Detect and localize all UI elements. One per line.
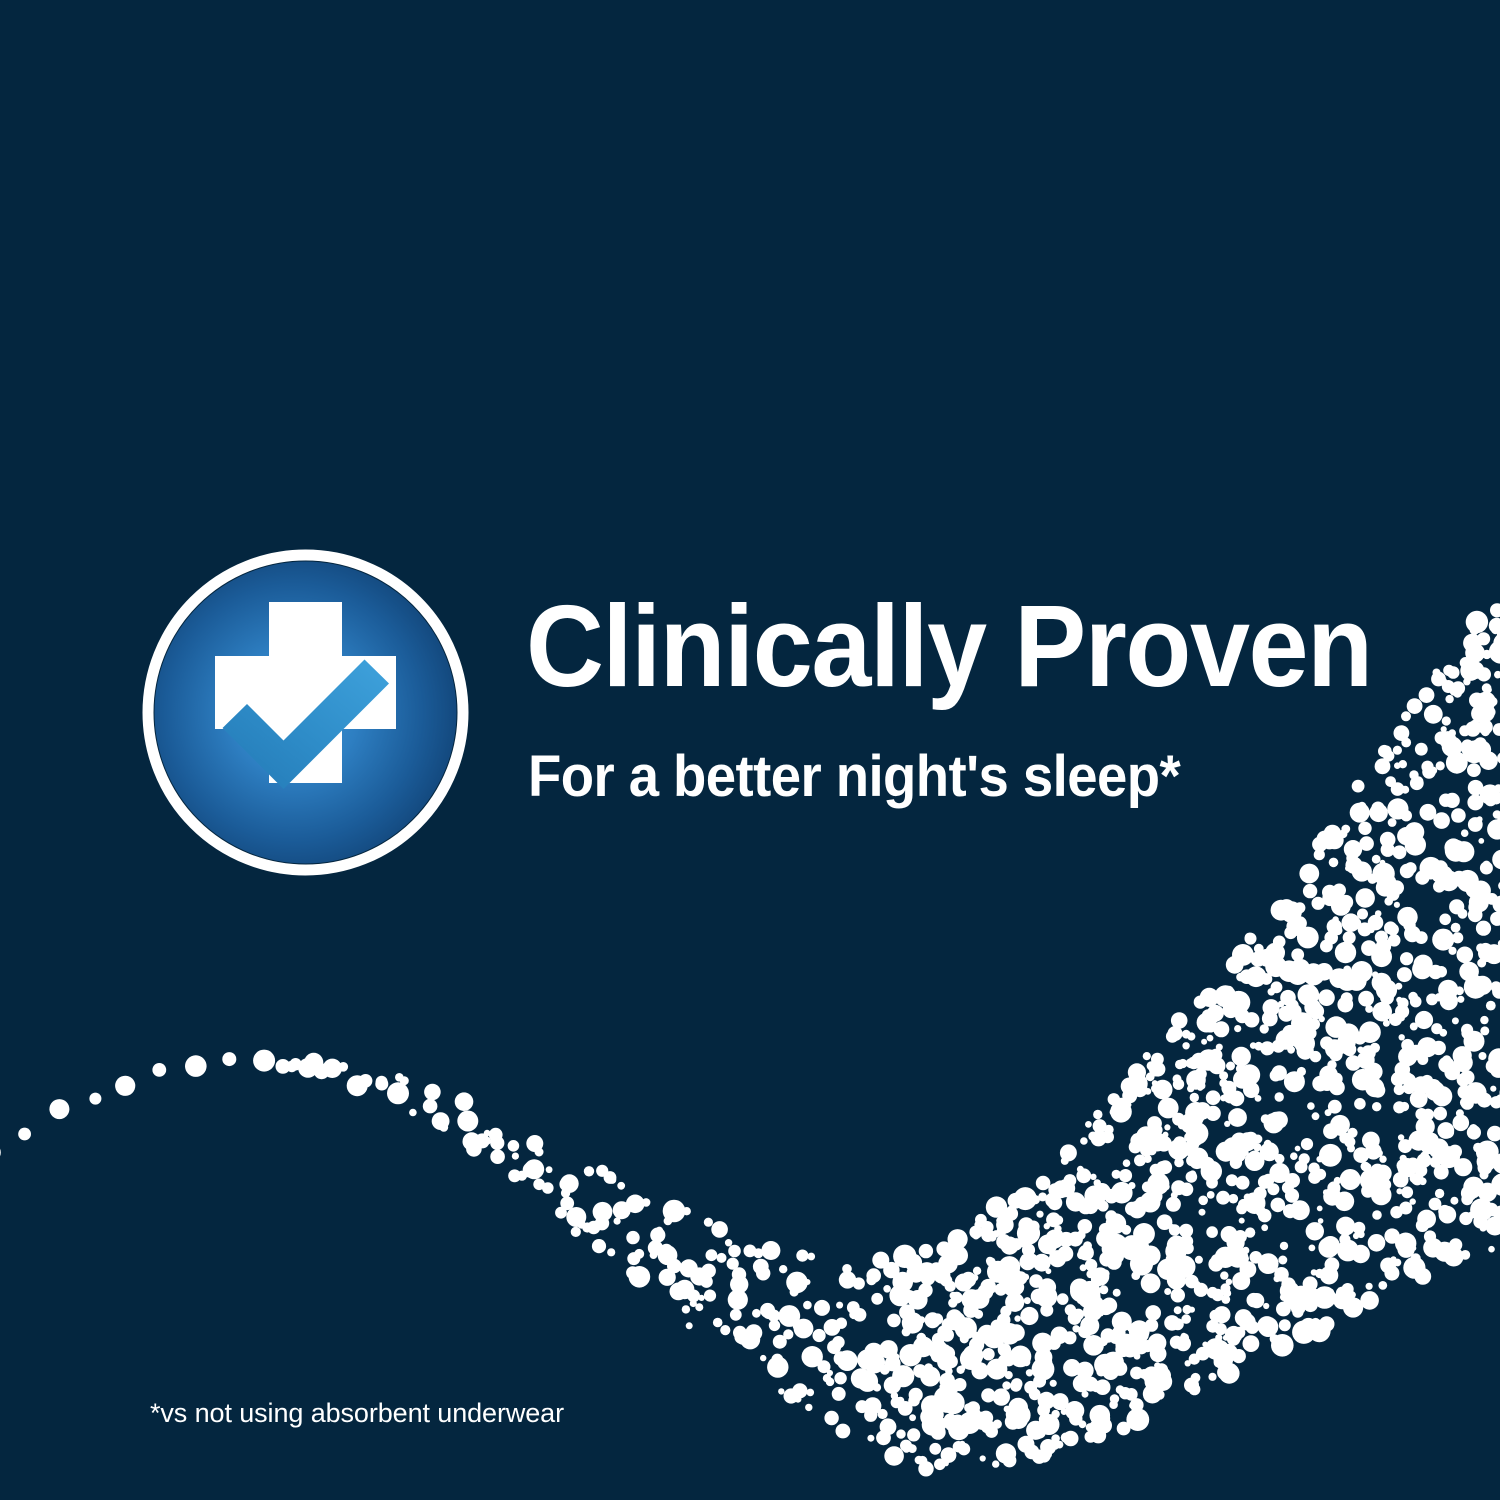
promo-banner: Clinically Proven For a better night's s… <box>0 0 1500 1500</box>
clinically-proven-badge-icon <box>133 540 478 885</box>
headline-group: Clinically Proven For a better night's s… <box>526 588 1426 806</box>
page-title: Clinically Proven <box>526 588 1363 704</box>
footnote-disclaimer: *vs not using absorbent underwear <box>150 1398 564 1429</box>
page-subtitle: For a better night's sleep* <box>528 748 1372 806</box>
